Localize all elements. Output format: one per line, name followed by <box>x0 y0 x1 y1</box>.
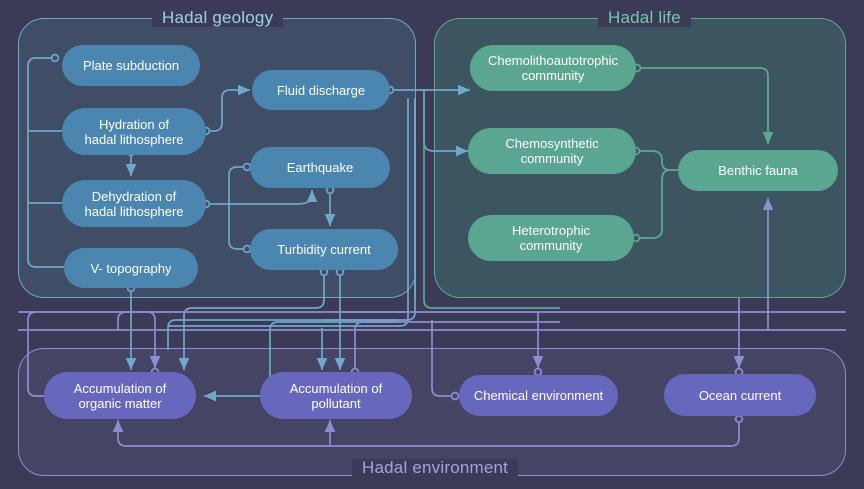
node-label-line2: hadal lithosphere <box>84 204 183 219</box>
node-accumulation-of-organic-matter[interactable]: Accumulation of organic matter <box>44 372 196 419</box>
diagram-canvas: Hadal geology Hadal life Hadal environme… <box>0 0 864 489</box>
node-label-line1: Chemolithoautotrophic <box>488 53 618 68</box>
node-fluid-discharge[interactable]: Fluid discharge <box>252 70 390 110</box>
node-label-line1: Hydration of <box>99 117 169 132</box>
node-label-line2: community <box>520 238 583 253</box>
node-earthquake[interactable]: Earthquake <box>250 147 390 188</box>
node-label-line1: Accumulation of <box>74 381 167 396</box>
panel-title-hadal-life: Hadal life <box>598 9 691 27</box>
node-turbidity-current[interactable]: Turbidity current <box>250 229 398 270</box>
node-label-line2: pollutant <box>311 396 360 411</box>
node-label-line2: community <box>521 151 584 166</box>
node-label-line1: Heterotrophic <box>512 223 590 238</box>
node-hydration-of-hadal-lithosphere[interactable]: Hydration of hadal lithosphere <box>62 108 206 155</box>
node-label-line1: Accumulation of <box>290 381 383 396</box>
node-chemosynthetic-community[interactable]: Chemosynthetic community <box>468 128 636 174</box>
node-label-line2: hadal lithosphere <box>84 132 183 147</box>
panel-title-hadal-geology: Hadal geology <box>152 9 283 27</box>
node-label-line1: Dehydration of <box>92 189 177 204</box>
node-chemical-environment[interactable]: Chemical environment <box>459 375 618 416</box>
panel-title-hadal-environment: Hadal environment <box>352 459 518 477</box>
node-label: Plate subduction <box>83 58 179 73</box>
node-label-line1: Chemosynthetic <box>505 136 598 151</box>
node-accumulation-of-pollutant[interactable]: Accumulation of pollutant <box>260 372 412 419</box>
node-label: V- topography <box>91 261 172 276</box>
node-label-line2: community <box>522 68 585 83</box>
node-label: Ocean current <box>699 388 781 403</box>
node-heterotrophic-community[interactable]: Heterotrophic community <box>468 215 634 261</box>
node-label: Chemical environment <box>474 388 603 403</box>
node-label-line2: organic matter <box>78 396 161 411</box>
node-benthic-fauna[interactable]: Benthic fauna <box>678 150 838 191</box>
node-label: Turbidity current <box>277 242 370 257</box>
node-dehydration-of-hadal-lithosphere[interactable]: Dehydration of hadal lithosphere <box>62 180 206 227</box>
node-plate-subduction[interactable]: Plate subduction <box>62 45 200 86</box>
node-label: Earthquake <box>287 160 354 175</box>
node-label: Fluid discharge <box>277 83 365 98</box>
node-label: Benthic fauna <box>718 163 798 178</box>
node-v-topography[interactable]: V- topography <box>64 248 198 288</box>
node-ocean-current[interactable]: Ocean current <box>664 374 816 416</box>
node-chemolithoautotrophic-community[interactable]: Chemolithoautotrophic community <box>470 45 636 91</box>
